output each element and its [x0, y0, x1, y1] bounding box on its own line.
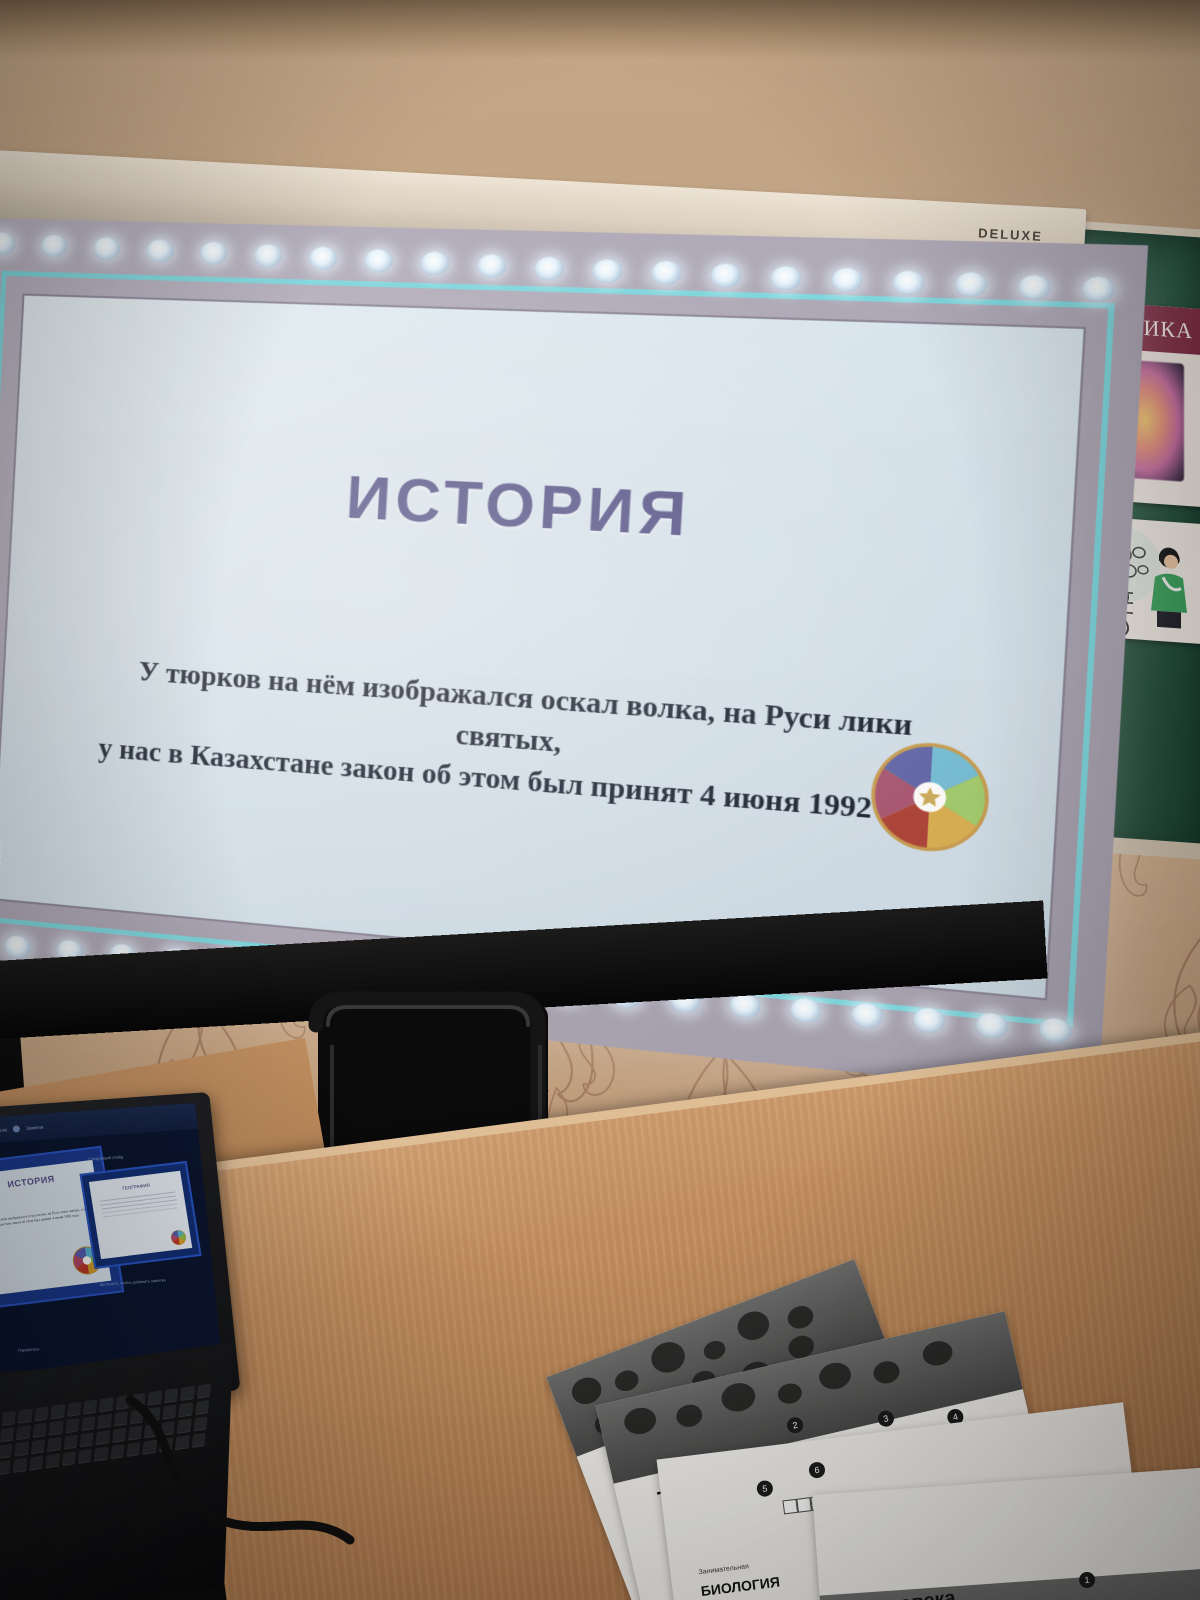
key[interactable] [32, 1423, 47, 1438]
key[interactable] [14, 1441, 29, 1456]
slide-body-text: У тюрков на нём изображался оскал волка,… [97, 649, 957, 837]
toolbar-item-0[interactable]: Слайд-шоу [0, 1127, 7, 1134]
key[interactable] [0, 1427, 15, 1442]
key[interactable] [112, 1428, 127, 1443]
prize-wheel-icon [865, 735, 996, 859]
key[interactable] [143, 1440, 158, 1455]
marquee-bulb-icon [93, 237, 121, 260]
marquee-bulb-icon [200, 242, 228, 265]
key[interactable] [96, 1430, 111, 1445]
key[interactable] [177, 1419, 192, 1434]
handout-subject: БИОЛОГИЯ [700, 1574, 781, 1600]
key[interactable] [99, 1397, 114, 1412]
classroom-scene: ЛОГИКА DELUXE [0, 0, 1200, 1600]
presenter-toolbar-item-2[interactable]: Параметры [18, 1346, 40, 1352]
key[interactable] [49, 1420, 64, 1435]
key[interactable] [115, 1395, 130, 1410]
marquee-bulb-icon [831, 267, 863, 292]
key[interactable] [110, 1444, 125, 1459]
key[interactable] [45, 1453, 60, 1468]
marquee-bulb-icon [770, 266, 802, 291]
key[interactable] [34, 1406, 49, 1421]
marquee-bulb-icon [309, 246, 338, 270]
marquee-bulb-icon [534, 256, 564, 280]
marquee-bulb-icon [955, 272, 988, 297]
key[interactable] [61, 1451, 76, 1466]
marquee-bulb-icon [1018, 275, 1051, 300]
key[interactable] [79, 1432, 94, 1447]
key[interactable] [191, 1433, 206, 1448]
key[interactable] [67, 1402, 82, 1417]
presenter-current-slide-body: У тюрков на нём изображался оскал волка,… [0, 1206, 95, 1231]
handout-header: Занимательная [698, 1563, 749, 1576]
handout-number: 5 [756, 1480, 774, 1498]
marquee-bulb-icon [710, 263, 741, 288]
key[interactable] [47, 1437, 62, 1452]
key[interactable] [180, 1386, 195, 1401]
key[interactable] [18, 1409, 33, 1424]
key[interactable] [94, 1446, 109, 1461]
toolbar-icon[interactable] [13, 1125, 21, 1132]
marquee-bulb-icon [420, 251, 450, 275]
key[interactable] [2, 1411, 17, 1426]
key[interactable] [162, 1404, 177, 1419]
key[interactable] [126, 1442, 141, 1457]
key[interactable] [193, 1416, 208, 1431]
slide-title: ИСТОРИЯ [13, 447, 1074, 572]
key[interactable] [31, 1439, 46, 1454]
key[interactable] [50, 1404, 65, 1419]
key[interactable] [114, 1411, 129, 1426]
key[interactable] [161, 1421, 176, 1436]
key[interactable] [65, 1418, 80, 1433]
marquee-bulb-icon [254, 244, 283, 267]
key[interactable] [130, 1409, 145, 1424]
acer-laptop[interactable]: Слайд-шоу Заметки ИСТОРИЯ У тюрков на нё… [0, 1100, 270, 1600]
presenter-next-slide-lines [100, 1192, 176, 1202]
presenter-next-slide[interactable]: ГЕОГРАФИЯ [80, 1161, 202, 1269]
slide-content-area: ИСТОРИЯ У тюрков на нём изображался оска… [0, 294, 1086, 1001]
powerpoint-toolbar[interactable]: Слайд-шоу Заметки [0, 1103, 198, 1145]
key[interactable] [16, 1425, 31, 1440]
toolbar-item-1[interactable]: Заметки [26, 1124, 44, 1130]
handout-number: 6 [808, 1461, 826, 1479]
key[interactable] [131, 1393, 146, 1408]
marquee-bulb-icon [592, 259, 623, 283]
key[interactable] [13, 1458, 28, 1473]
key[interactable] [164, 1388, 179, 1403]
key[interactable] [0, 1460, 11, 1475]
laptop-screen[interactable]: Слайд-шоу Заметки ИСТОРИЯ У тюрков на нё… [0, 1103, 222, 1373]
laptop-keyboard[interactable] [0, 1384, 211, 1567]
key[interactable] [81, 1416, 96, 1431]
key[interactable] [196, 1384, 211, 1399]
key[interactable] [178, 1402, 193, 1417]
key[interactable] [195, 1400, 210, 1415]
key[interactable] [128, 1425, 143, 1440]
key[interactable] [0, 1444, 13, 1459]
key[interactable] [144, 1423, 159, 1438]
key[interactable] [175, 1435, 190, 1450]
prize-wheel-icon [169, 1229, 187, 1247]
handout-papers[interactable]: БИОЛОГИЯ Занимательная 1 Тело человека О… [520, 1300, 1200, 1600]
key[interactable] [159, 1437, 174, 1452]
presenter-next-slide-label: Следующий слайд [88, 1154, 123, 1161]
marquee-bulb-icon [477, 254, 507, 278]
marquee-bulb-icon [4, 935, 31, 960]
key[interactable] [97, 1414, 112, 1429]
key[interactable] [146, 1407, 161, 1422]
key[interactable] [83, 1399, 98, 1414]
key[interactable] [29, 1456, 44, 1471]
key[interactable] [78, 1449, 93, 1464]
key[interactable] [148, 1390, 163, 1405]
key[interactable] [63, 1435, 78, 1450]
marquee-bulb-icon [1081, 276, 1115, 302]
marquee-bulb-icon [892, 270, 924, 295]
presenter-next-slide-inner: ГЕОГРАФИЯ [89, 1171, 192, 1259]
marquee-bulb-icon [146, 239, 174, 262]
marquee-bulb-icon [364, 249, 393, 273]
marquee-bulb-icon [651, 261, 682, 285]
projector-screen-unit: DELUXE ИСТОРИЯ У тюрков на нём изображал… [0, 0, 1095, 1060]
marquee-bulb-icon [0, 232, 16, 255]
marquee-bulb-icon [41, 234, 68, 257]
